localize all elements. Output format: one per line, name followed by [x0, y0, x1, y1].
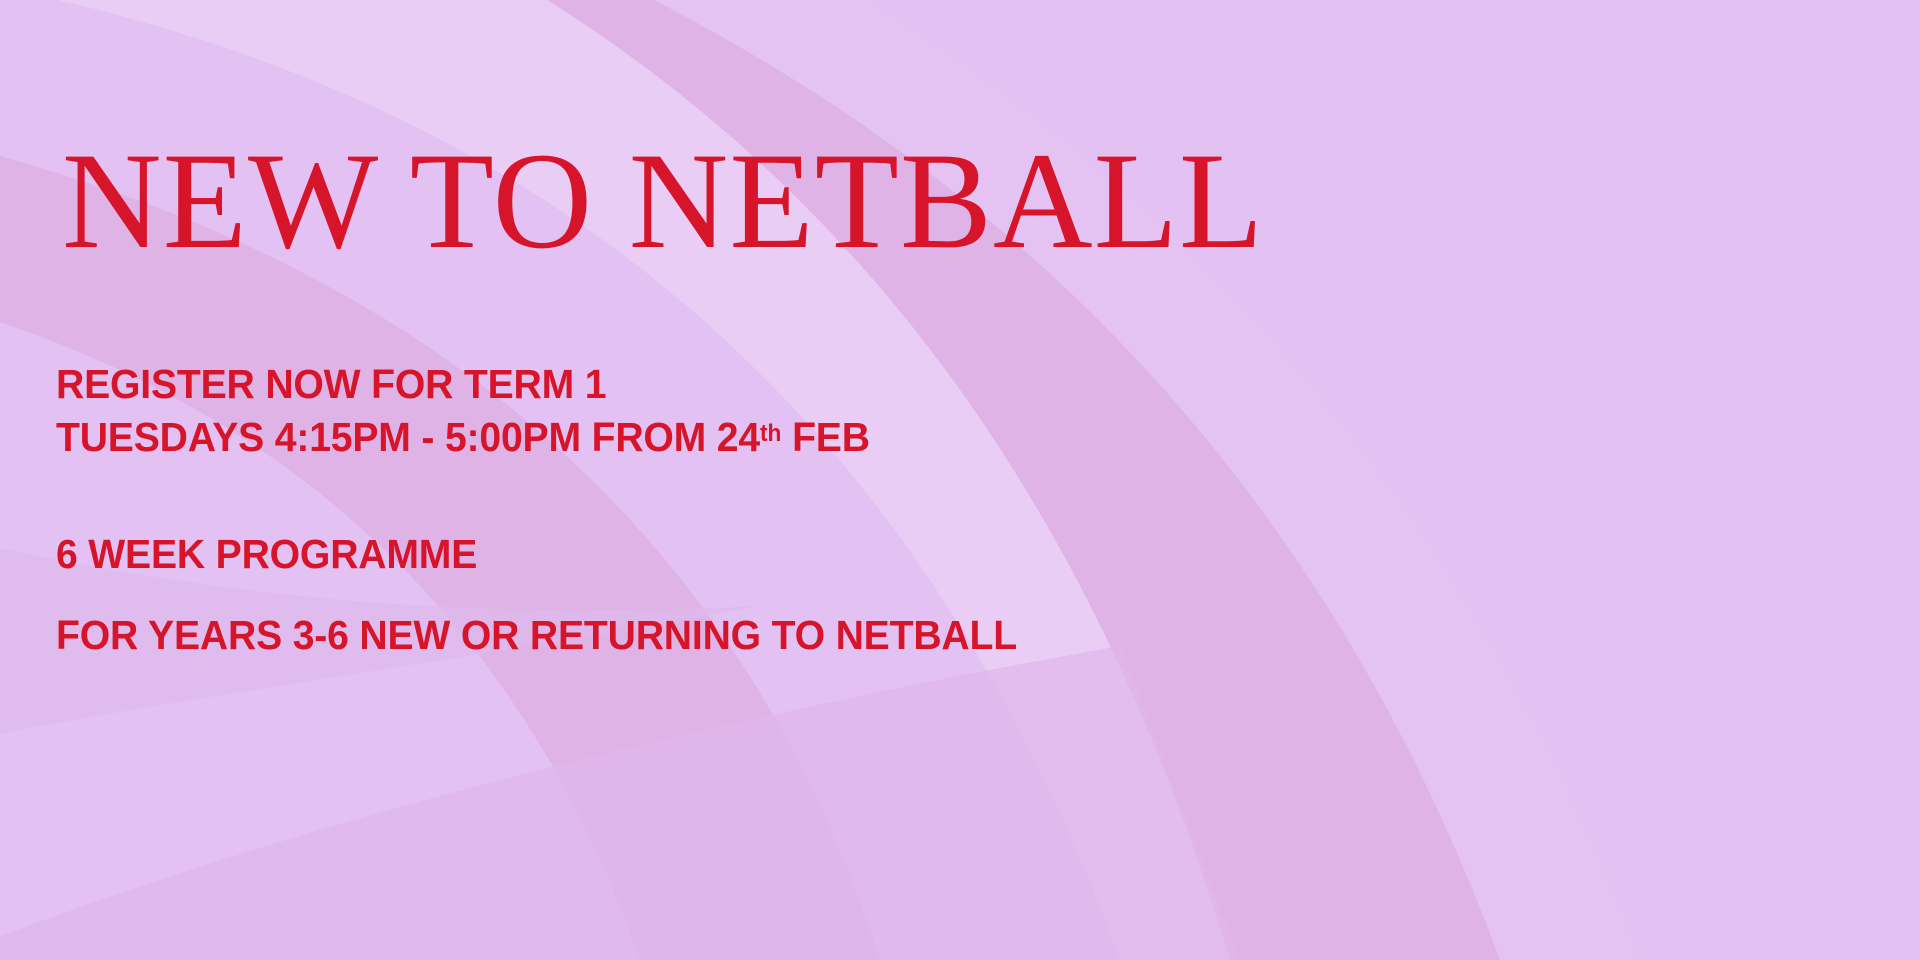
programme-audience-line: FOR YEARS 3-6 NEW OR RETURNING TO NETBAL… [56, 609, 1017, 662]
page-title: NEW TO NETBALL [62, 132, 1264, 270]
registration-line: REGISTER NOW FOR TERM 1 [56, 358, 870, 411]
session-time-prefix: TUESDAYS 4:15PM - 5:00PM FROM 24 [56, 414, 760, 460]
netball-promo-banner: NEW TO NETBALL REGISTER NOW FOR TERM 1 T… [0, 0, 1920, 960]
schedule-block: REGISTER NOW FOR TERM 1 TUESDAYS 4:15PM … [56, 358, 908, 470]
poster-content: NEW TO NETBALL REGISTER NOW FOR TERM 1 T… [0, 0, 1920, 960]
date-ordinal-suffix: th [760, 420, 781, 447]
session-month: FEB [781, 414, 869, 460]
programme-block: 6 WEEK PROGRAMME FOR YEARS 3-6 NEW OR RE… [56, 528, 1062, 662]
programme-duration-line: 6 WEEK PROGRAMME [56, 528, 1017, 581]
session-time-line: TUESDAYS 4:15PM - 5:00PM FROM 24th FEB [56, 411, 870, 470]
